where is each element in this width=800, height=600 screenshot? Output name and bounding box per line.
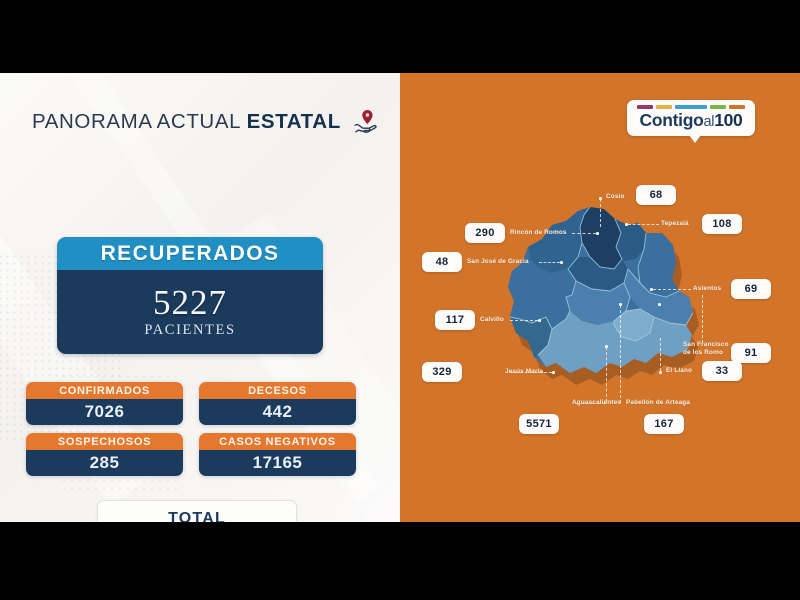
muni-leader-line (660, 338, 661, 371)
muni-name-el-llano: El Llano (666, 367, 692, 375)
muni-name-tepezala: Tepezalá (661, 220, 689, 228)
stat-value: 442 (263, 402, 293, 422)
stat-box-sospechosos: SOSPECHOSOS 285 (26, 433, 183, 476)
muni-pill-el-llano[interactable]: 33 (702, 361, 742, 381)
muni-value-calvillo: 117 (446, 314, 465, 326)
muni-pill-aguascalientes[interactable]: 5571 (519, 414, 559, 434)
muni-leader-line (653, 289, 691, 290)
muni-leader-line (510, 320, 538, 321)
stat-value: 285 (90, 453, 120, 473)
muni-leader-line (600, 199, 601, 227)
muni-anchor-dot (552, 371, 555, 374)
muni-anchor-dot (538, 319, 541, 322)
muni-pill-san-francisco-de-los-romo[interactable]: 91 (731, 343, 771, 363)
muni-pill-cosio[interactable]: 68 (636, 185, 676, 205)
page-title-bold: ESTATAL (247, 110, 341, 133)
muni-value-asientos: 69 (745, 283, 758, 295)
muni-pill-san-jose-de-gracia[interactable]: 48 (422, 252, 462, 272)
muni-value-jesus-maria: 329 (432, 366, 451, 378)
stat-box-body: 285 (26, 450, 183, 476)
muni-leader-line (572, 233, 596, 234)
muni-value-pabellon-de-arteaga: 167 (654, 418, 673, 430)
stat-value: 7026 (85, 402, 125, 422)
recuperados-value: 5227 (153, 285, 227, 320)
stat-label: CASOS NEGATIVOS (219, 436, 336, 448)
muni-anchor-dot (658, 303, 661, 306)
stat-box-confirmados: CONFIRMADOS 7026 (26, 382, 183, 425)
stat-box-header: CASOS NEGATIVOS (199, 433, 356, 450)
recuperados-label: RECUPERADOS (101, 242, 280, 266)
total-label: TOTAL (168, 510, 226, 523)
stat-label: CONFIRMADOS (59, 385, 150, 397)
muni-value-san-francisco-de-los-romo: 91 (745, 347, 758, 359)
muni-name-san-jose-de-gracia: San José de Gracia (467, 258, 529, 266)
stat-label: DECESOS (248, 385, 307, 397)
stat-value: 17165 (253, 453, 303, 473)
page-header: PANORAMA ACTUAL ESTATAL (32, 105, 372, 139)
muni-anchor-dot (659, 371, 662, 374)
muni-name-calvillo: Calvillo (480, 316, 504, 324)
right-map-panel: Contigoal100 (400, 73, 800, 522)
recuperados-unit: PACIENTES (144, 322, 235, 339)
stat-box-decesos: DECESOS 442 (199, 382, 356, 425)
muni-anchor-dot (596, 232, 599, 235)
muni-value-cosio: 68 (650, 189, 663, 201)
stat-box-header: SOSPECHOSOS (26, 433, 183, 450)
stat-box-grid: CONFIRMADOS 7026 DECESOS 442 (26, 382, 356, 476)
stat-label: SOSPECHOSOS (58, 436, 151, 448)
muni-value-san-jose-de-gracia: 48 (436, 256, 449, 268)
muni-leader-line (539, 262, 560, 263)
muni-value-el-llano: 33 (716, 365, 729, 377)
map-pin-in-hand-icon (351, 108, 379, 136)
stat-box-body: 17165 (199, 450, 356, 476)
muni-pill-calvillo[interactable]: 117 (435, 310, 475, 330)
stat-box-casos-negativos: CASOS NEGATIVOS 17165 (199, 433, 356, 476)
muni-name-cosio: Cosío (606, 193, 625, 201)
total-box: TOTAL 24476 (97, 500, 297, 522)
muni-leader-line (620, 305, 621, 403)
recuperados-card: RECUPERADOS 5227 PACIENTES (57, 237, 323, 354)
muni-anchor-dot (560, 261, 563, 264)
stat-box-body: 7026 (26, 399, 183, 425)
page-title-regular: PANORAMA ACTUAL (32, 110, 247, 133)
muni-value-tepezala: 108 (712, 218, 731, 230)
muni-value-rincon-de-romos: 290 (475, 227, 494, 239)
muni-pill-jesus-maria[interactable]: 329 (422, 362, 462, 382)
screenshot-frame: PANORAMA ACTUAL ESTATAL RECUPERADOS 5227… (0, 0, 800, 600)
content-band: PANORAMA ACTUAL ESTATAL RECUPERADOS 5227… (0, 73, 800, 522)
stat-box-header: DECESOS (199, 382, 356, 399)
muni-name-pabellon-de-arteaga: Pabellón de Arteaga (626, 399, 690, 407)
muni-name-jesus-maria: Jesús María (505, 368, 543, 376)
recuperados-card-header: RECUPERADOS (57, 237, 323, 270)
muni-name-rincon-de-romos: Rincón de Romos (510, 229, 567, 237)
muni-pill-asientos[interactable]: 69 (731, 279, 771, 299)
muni-leader-line (628, 224, 659, 225)
muni-value-aguascalientes: 5571 (526, 418, 552, 430)
muni-leader-line (606, 347, 607, 402)
muni-leader-line (702, 295, 703, 343)
muni-name-aguascalientes: Aguascalientes (572, 399, 621, 407)
muni-pill-pabellon-de-arteaga[interactable]: 167 (644, 414, 684, 434)
stat-box-header: CONFIRMADOS (26, 382, 183, 399)
recuperados-card-body: 5227 PACIENTES (57, 270, 323, 354)
muni-name-asientos: Asientos (693, 285, 721, 293)
page-title: PANORAMA ACTUAL ESTATAL (32, 110, 341, 134)
muni-pill-rincon-de-romos[interactable]: 290 (465, 223, 505, 243)
muni-pill-tepezala[interactable]: 108 (702, 214, 742, 234)
stat-box-body: 442 (199, 399, 356, 425)
left-stats-panel: PANORAMA ACTUAL ESTATAL RECUPERADOS 5227… (0, 73, 400, 522)
